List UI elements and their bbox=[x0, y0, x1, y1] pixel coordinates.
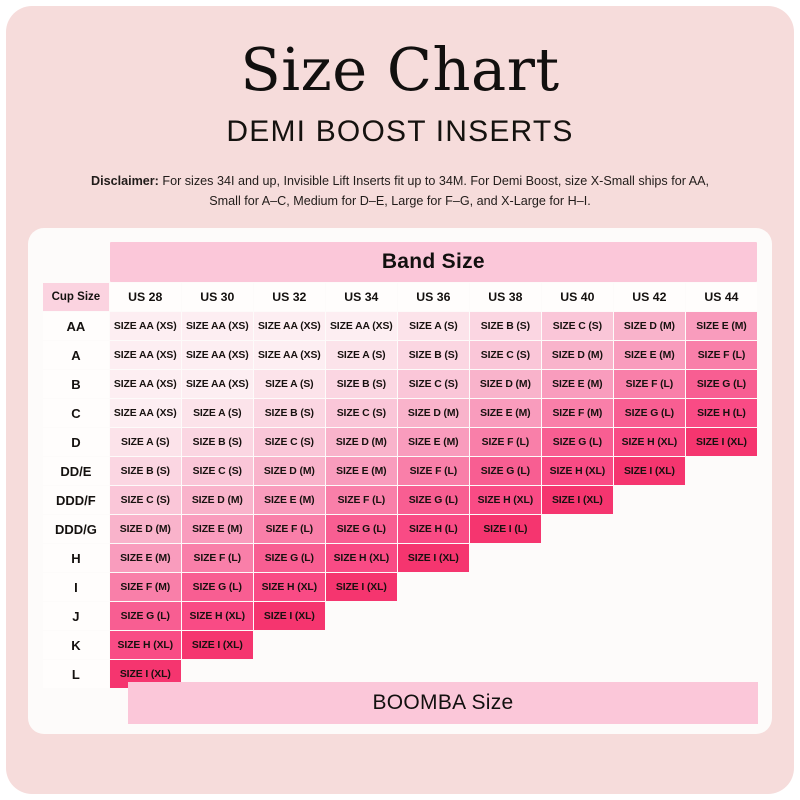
size-cell: SIZE AA (XS) bbox=[182, 341, 253, 369]
cup-size-label: K bbox=[43, 631, 109, 659]
header: Size Chart DEMI BOOST INSERTS Disclaimer… bbox=[6, 6, 794, 212]
size-cell-empty bbox=[470, 544, 541, 572]
band-size-banner: Band Size bbox=[110, 242, 757, 282]
size-cell: SIZE I (XL) bbox=[686, 428, 757, 456]
cup-size-label: DDD/F bbox=[43, 486, 109, 514]
size-cell-empty bbox=[614, 602, 685, 630]
boomba-size-banner: BOOMBA Size bbox=[128, 682, 758, 724]
pink-panel: Size Chart DEMI BOOST INSERTS Disclaimer… bbox=[6, 6, 794, 794]
page-title: Size Chart bbox=[6, 40, 794, 99]
size-cell: SIZE G (L) bbox=[182, 573, 253, 601]
size-cell: SIZE AA (XS) bbox=[182, 312, 253, 340]
size-cell-empty bbox=[686, 486, 757, 514]
size-cell: SIZE G (L) bbox=[470, 457, 541, 485]
table-row: DDD/FSIZE C (S)SIZE D (M)SIZE E (M)SIZE … bbox=[43, 486, 757, 514]
size-cell-empty bbox=[614, 631, 685, 659]
size-cell-empty bbox=[398, 631, 469, 659]
page-subtitle: DEMI BOOST INSERTS bbox=[6, 115, 794, 149]
table-row: AASIZE AA (XS)SIZE AA (XS)SIZE AA (XS)SI… bbox=[43, 312, 757, 340]
size-cell-empty bbox=[542, 544, 613, 572]
size-cell-empty bbox=[470, 602, 541, 630]
size-cell: SIZE G (L) bbox=[110, 602, 181, 630]
size-cell: SIZE D (M) bbox=[398, 399, 469, 427]
size-cell-empty bbox=[542, 602, 613, 630]
size-cell-empty bbox=[686, 515, 757, 543]
size-cell: SIZE E (M) bbox=[110, 544, 181, 572]
size-cell: SIZE AA (XS) bbox=[254, 312, 325, 340]
size-cell-empty bbox=[398, 602, 469, 630]
size-cell-empty bbox=[542, 515, 613, 543]
size-cell: SIZE A (S) bbox=[110, 428, 181, 456]
size-cell-empty bbox=[254, 631, 325, 659]
size-cell: SIZE C (S) bbox=[326, 399, 397, 427]
size-cell-empty bbox=[398, 573, 469, 601]
table-body: AASIZE AA (XS)SIZE AA (XS)SIZE AA (XS)SI… bbox=[43, 312, 757, 688]
size-cell: SIZE C (S) bbox=[110, 486, 181, 514]
size-cell-empty bbox=[686, 544, 757, 572]
size-cell: SIZE AA (XS) bbox=[326, 312, 397, 340]
size-cell-empty bbox=[614, 544, 685, 572]
size-chart-page: Size Chart DEMI BOOST INSERTS Disclaimer… bbox=[0, 0, 800, 800]
band-size-header: US 40 bbox=[542, 283, 613, 311]
size-cell: SIZE H (XL) bbox=[614, 428, 685, 456]
table-row: ASIZE AA (XS)SIZE AA (XS)SIZE AA (XS)SIZ… bbox=[43, 341, 757, 369]
size-cell: SIZE E (M) bbox=[326, 457, 397, 485]
disclaimer-text: For sizes 34I and up, Invisible Lift Ins… bbox=[159, 174, 709, 208]
table-row: KSIZE H (XL)SIZE I (XL) bbox=[43, 631, 757, 659]
size-cell: SIZE B (S) bbox=[182, 428, 253, 456]
size-cell: SIZE A (S) bbox=[254, 370, 325, 398]
size-cell: SIZE F (L) bbox=[614, 370, 685, 398]
size-cell: SIZE AA (XS) bbox=[182, 370, 253, 398]
size-cell: SIZE I (XL) bbox=[398, 544, 469, 572]
size-cell: SIZE C (S) bbox=[398, 370, 469, 398]
size-cell: SIZE H (XL) bbox=[326, 544, 397, 572]
size-cell: SIZE A (S) bbox=[182, 399, 253, 427]
size-cell: SIZE I (XL) bbox=[182, 631, 253, 659]
table-row: BSIZE AA (XS)SIZE AA (XS)SIZE A (S)SIZE … bbox=[43, 370, 757, 398]
table-row: CSIZE AA (XS)SIZE A (S)SIZE B (S)SIZE C … bbox=[43, 399, 757, 427]
size-cell: SIZE B (S) bbox=[398, 341, 469, 369]
table-row: DD/ESIZE B (S)SIZE C (S)SIZE D (M)SIZE E… bbox=[43, 457, 757, 485]
size-cell: SIZE H (L) bbox=[398, 515, 469, 543]
cup-size-label: J bbox=[43, 602, 109, 630]
size-cell: SIZE G (L) bbox=[326, 515, 397, 543]
band-size-header: US 34 bbox=[326, 283, 397, 311]
cup-size-label: C bbox=[43, 399, 109, 427]
size-cell: SIZE G (L) bbox=[686, 370, 757, 398]
size-cell: SIZE H (XL) bbox=[182, 602, 253, 630]
size-cell: SIZE G (L) bbox=[542, 428, 613, 456]
band-size-header: US 38 bbox=[470, 283, 541, 311]
size-cell: SIZE B (S) bbox=[110, 457, 181, 485]
corner-blank bbox=[43, 242, 109, 282]
size-table: Band Size Cup Size US 28US 30US 32US 34U… bbox=[42, 241, 758, 689]
size-cell-empty bbox=[470, 631, 541, 659]
size-cell: SIZE E (M) bbox=[470, 399, 541, 427]
size-cell: SIZE AA (XS) bbox=[110, 312, 181, 340]
size-cell: SIZE AA (XS) bbox=[110, 341, 181, 369]
size-cell: SIZE G (L) bbox=[614, 399, 685, 427]
size-cell: SIZE E (M) bbox=[254, 486, 325, 514]
size-cell: SIZE A (S) bbox=[326, 341, 397, 369]
band-size-header: US 28 bbox=[110, 283, 181, 311]
size-cell: SIZE E (M) bbox=[398, 428, 469, 456]
column-header-row: Cup Size US 28US 30US 32US 34US 36US 38U… bbox=[43, 283, 757, 311]
size-cell: SIZE H (XL) bbox=[254, 573, 325, 601]
size-cell-empty bbox=[470, 573, 541, 601]
size-cell: SIZE B (S) bbox=[254, 399, 325, 427]
disclaimer: Disclaimer: For sizes 34I and up, Invisi… bbox=[80, 171, 720, 212]
size-table-wrapper: Band Size Cup Size US 28US 30US 32US 34U… bbox=[42, 241, 758, 689]
size-cell: SIZE F (L) bbox=[326, 486, 397, 514]
size-cell: SIZE D (M) bbox=[326, 428, 397, 456]
size-cell: SIZE C (S) bbox=[470, 341, 541, 369]
table-row: JSIZE G (L)SIZE H (XL)SIZE I (XL) bbox=[43, 602, 757, 630]
band-size-header: US 30 bbox=[182, 283, 253, 311]
band-size-header: US 32 bbox=[254, 283, 325, 311]
size-cell: SIZE D (M) bbox=[182, 486, 253, 514]
size-cell-empty bbox=[614, 515, 685, 543]
size-cell: SIZE I (XL) bbox=[326, 573, 397, 601]
size-cell: SIZE H (L) bbox=[686, 399, 757, 427]
cup-size-label: H bbox=[43, 544, 109, 572]
size-cell-empty bbox=[326, 602, 397, 630]
size-cell: SIZE G (L) bbox=[254, 544, 325, 572]
size-cell-empty bbox=[326, 631, 397, 659]
size-cell: SIZE D (M) bbox=[470, 370, 541, 398]
table-row: DSIZE A (S)SIZE B (S)SIZE C (S)SIZE D (M… bbox=[43, 428, 757, 456]
table-row: ISIZE F (M)SIZE G (L)SIZE H (XL)SIZE I (… bbox=[43, 573, 757, 601]
cup-size-label: DD/E bbox=[43, 457, 109, 485]
size-cell: SIZE D (M) bbox=[254, 457, 325, 485]
size-cell: SIZE AA (XS) bbox=[254, 341, 325, 369]
cup-size-label: L bbox=[43, 660, 109, 688]
size-cell: SIZE D (M) bbox=[110, 515, 181, 543]
size-cell: SIZE G (L) bbox=[398, 486, 469, 514]
size-cell: SIZE H (XL) bbox=[542, 457, 613, 485]
size-cell-empty bbox=[686, 573, 757, 601]
size-cell: SIZE H (XL) bbox=[110, 631, 181, 659]
size-cell-empty bbox=[614, 486, 685, 514]
size-cell: SIZE F (L) bbox=[686, 341, 757, 369]
size-cell: SIZE B (S) bbox=[470, 312, 541, 340]
band-size-header: US 44 bbox=[686, 283, 757, 311]
size-cell: SIZE I (XL) bbox=[542, 486, 613, 514]
size-cell: SIZE I (XL) bbox=[254, 602, 325, 630]
size-cell-empty bbox=[542, 631, 613, 659]
cup-size-label: D bbox=[43, 428, 109, 456]
band-size-header: US 36 bbox=[398, 283, 469, 311]
size-cell: SIZE I (XL) bbox=[614, 457, 685, 485]
cup-size-label: I bbox=[43, 573, 109, 601]
band-banner-row: Band Size bbox=[43, 242, 757, 282]
cup-size-label: A bbox=[43, 341, 109, 369]
cup-size-label: B bbox=[43, 370, 109, 398]
size-cell: SIZE D (M) bbox=[614, 312, 685, 340]
size-cell: SIZE E (M) bbox=[182, 515, 253, 543]
table-head: Band Size Cup Size US 28US 30US 32US 34U… bbox=[43, 242, 757, 311]
size-cell: SIZE F (M) bbox=[110, 573, 181, 601]
size-cell: SIZE E (M) bbox=[542, 370, 613, 398]
size-cell-empty bbox=[614, 573, 685, 601]
size-cell: SIZE E (M) bbox=[686, 312, 757, 340]
size-cell: SIZE I (L) bbox=[470, 515, 541, 543]
size-cell: SIZE F (L) bbox=[470, 428, 541, 456]
size-cell: SIZE F (M) bbox=[542, 399, 613, 427]
band-size-header: US 42 bbox=[614, 283, 685, 311]
cup-size-label: AA bbox=[43, 312, 109, 340]
size-cell: SIZE AA (XS) bbox=[110, 399, 181, 427]
size-cell: SIZE F (L) bbox=[398, 457, 469, 485]
size-cell: SIZE C (S) bbox=[254, 428, 325, 456]
size-cell: SIZE D (M) bbox=[542, 341, 613, 369]
cup-size-header: Cup Size bbox=[43, 283, 109, 311]
size-cell: SIZE AA (XS) bbox=[110, 370, 181, 398]
size-cell: SIZE F (L) bbox=[182, 544, 253, 572]
size-chart-card: Band Size Cup Size US 28US 30US 32US 34U… bbox=[28, 228, 772, 734]
size-cell: SIZE F (L) bbox=[254, 515, 325, 543]
cup-size-label: DDD/G bbox=[43, 515, 109, 543]
disclaimer-label: Disclaimer: bbox=[91, 174, 159, 188]
size-cell: SIZE A (S) bbox=[398, 312, 469, 340]
size-cell: SIZE E (M) bbox=[614, 341, 685, 369]
size-cell-empty bbox=[542, 573, 613, 601]
size-cell: SIZE B (S) bbox=[326, 370, 397, 398]
size-cell-empty bbox=[686, 602, 757, 630]
size-cell: SIZE C (S) bbox=[182, 457, 253, 485]
size-cell: SIZE C (S) bbox=[542, 312, 613, 340]
size-cell: SIZE H (XL) bbox=[470, 486, 541, 514]
size-cell-empty bbox=[686, 631, 757, 659]
table-row: DDD/GSIZE D (M)SIZE E (M)SIZE F (L)SIZE … bbox=[43, 515, 757, 543]
size-cell-empty bbox=[686, 457, 757, 485]
table-row: HSIZE E (M)SIZE F (L)SIZE G (L)SIZE H (X… bbox=[43, 544, 757, 572]
